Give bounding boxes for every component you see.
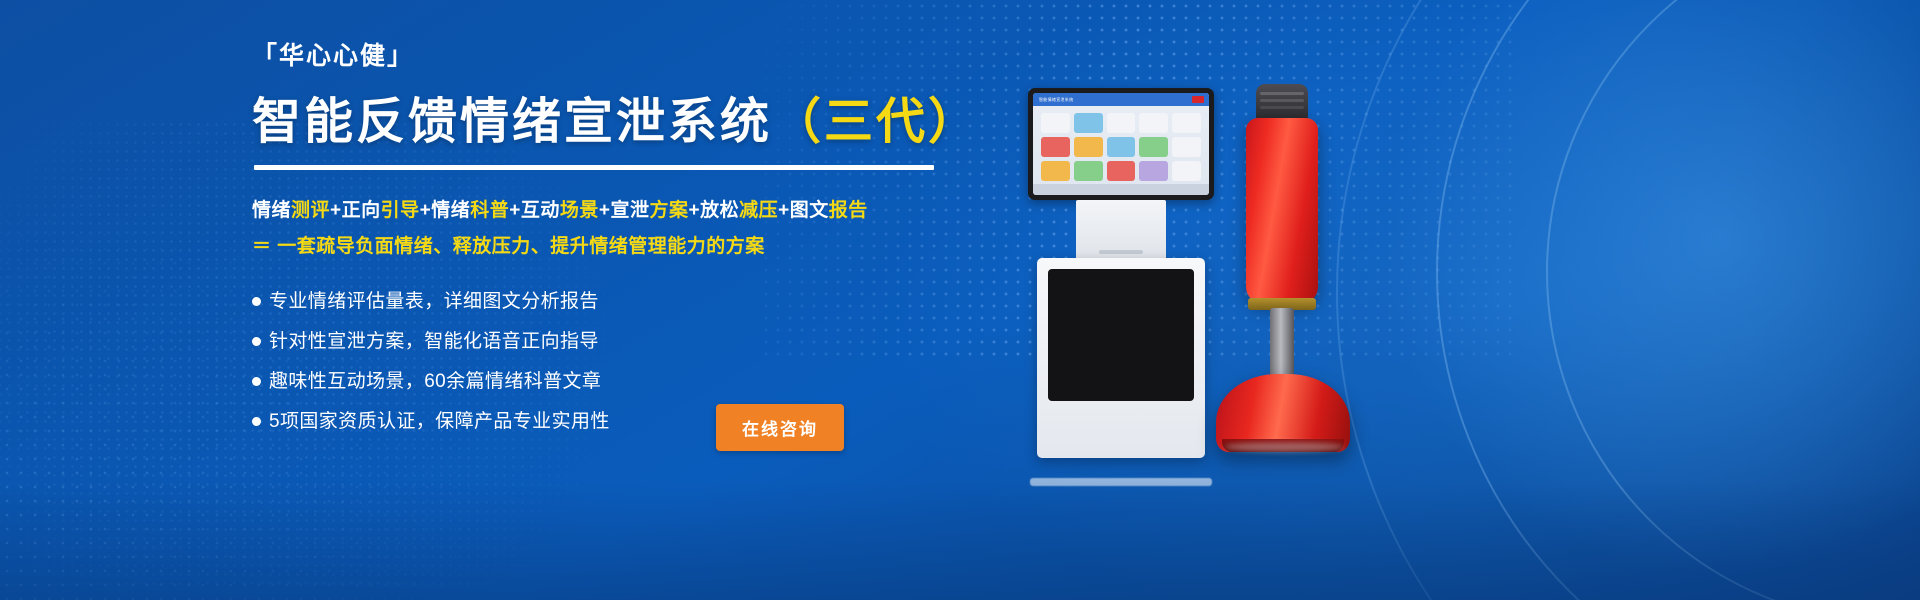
benefit-list: 专业情绪评估量表，详细图文分析报告 针对性宣泄方案，智能化语音正向指导 趣味性互…	[252, 292, 952, 431]
kiosk-tile	[1074, 137, 1103, 157]
feature-seg-3: +正向	[330, 200, 381, 221]
feature-seg-7: +互动	[509, 200, 560, 221]
feature-seg-8: 场景	[560, 200, 599, 221]
kiosk-tile	[1172, 137, 1201, 157]
banner-copy: 「华心心健」 智能反馈情绪宣泄系统（三代） 情绪测评+正向引导+情绪科普+互动场…	[252, 44, 952, 452]
page-title: 智能反馈情绪宣泄系统（三代）	[252, 97, 952, 148]
product-photo: 智能情绪宣泄系统	[1000, 60, 1420, 480]
bottom-gradient-overlay	[0, 480, 1920, 600]
headline-generation-text: （三代）	[772, 95, 980, 149]
feature-line-2: ＝ 一套疏导负面情绪、释放压力、提升情绪管理能力的方案	[252, 232, 952, 261]
punching-bag-cap	[1256, 84, 1308, 122]
kiosk-taskbar	[1033, 184, 1209, 195]
kiosk-display: 智能情绪宣泄系统	[1028, 88, 1214, 200]
kiosk-tile	[1107, 137, 1136, 157]
feature-seg-11: +放松	[689, 200, 740, 221]
kiosk-base-reflection	[1030, 478, 1212, 486]
kiosk-app-title: 智能情绪宣泄系统	[1033, 93, 1209, 106]
kiosk-tile	[1139, 137, 1168, 157]
kiosk-cabinet	[1037, 258, 1205, 458]
list-item-label: 5项国家资质认证，保障产品专业实用性	[269, 412, 610, 431]
kiosk-tile	[1074, 113, 1103, 133]
kiosk-tile	[1172, 161, 1201, 181]
kiosk-tile	[1107, 161, 1136, 181]
list-item: 趣味性互动场景，60余篇情绪科普文章	[252, 372, 952, 391]
punching-bag-body	[1246, 118, 1318, 303]
kiosk-tile	[1074, 161, 1103, 181]
feature-seg-6: 科普	[470, 200, 509, 221]
flag-icon	[1192, 96, 1204, 103]
feature-seg-9: +宣泄	[599, 200, 650, 221]
kiosk-tile	[1139, 113, 1168, 133]
title-divider	[254, 165, 934, 170]
kiosk-tile-grid	[1041, 113, 1201, 181]
kiosk-tile	[1107, 113, 1136, 133]
kiosk-stand-neck	[1076, 200, 1166, 262]
kiosk-app-titlebar: 智能情绪宣泄系统	[1033, 93, 1209, 106]
cta-container: 在线咨询	[716, 404, 844, 451]
feature-seg-2: 测评	[291, 200, 330, 221]
list-item: 针对性宣泄方案，智能化语音正向指导	[252, 332, 952, 351]
decorative-arc-1	[1436, 0, 1920, 600]
feature-seg-12: 减压	[739, 200, 778, 221]
feature-seg-4: 引导	[381, 200, 420, 221]
promo-banner: 「华心心健」 智能反馈情绪宣泄系统（三代） 情绪测评+正向引导+情绪科普+互动场…	[0, 0, 1920, 600]
feature-summary: 情绪测评+正向引导+情绪科普+互动场景+宣泄方案+放松减压+图文报告 ＝ 一套疏…	[252, 196, 952, 261]
feature-line-1: 情绪测评+正向引导+情绪科普+互动场景+宣泄方案+放松减压+图文报告	[252, 196, 952, 225]
kiosk-lower-panel	[1048, 269, 1194, 401]
bullet-icon	[252, 337, 261, 346]
bullet-icon	[252, 417, 261, 426]
punching-bag-reflection	[1224, 442, 1344, 452]
bullet-icon	[252, 297, 261, 306]
background-glow	[1360, 0, 1920, 600]
bullet-icon	[252, 377, 261, 386]
punching-bag-rod	[1270, 308, 1294, 380]
list-item: 专业情绪评估量表，详细图文分析报告	[252, 292, 952, 311]
decorative-arc-2	[1336, 0, 1920, 600]
feature-seg-5: +情绪	[420, 200, 471, 221]
punching-bag-base	[1216, 374, 1350, 452]
headline-main-text: 智能反馈情绪宣泄系统	[252, 95, 772, 149]
kiosk-tile	[1139, 161, 1168, 181]
list-item-label: 趣味性互动场景，60余篇情绪科普文章	[269, 372, 601, 391]
online-consult-button[interactable]: 在线咨询	[716, 404, 844, 451]
feature-seg-10: 方案	[650, 200, 689, 221]
kiosk-tile	[1041, 113, 1070, 133]
list-item-label: 专业情绪评估量表，详细图文分析报告	[269, 292, 599, 311]
kiosk-tile	[1041, 137, 1070, 157]
kiosk-tile	[1041, 161, 1070, 181]
list-item-label: 针对性宣泄方案，智能化语音正向指导	[269, 332, 599, 351]
kiosk-screen-ui: 智能情绪宣泄系统	[1033, 93, 1209, 195]
feature-seg-1: 情绪	[252, 200, 291, 221]
feature-seg-14: 报告	[829, 200, 868, 221]
brand-name: 「华心心健」	[252, 44, 952, 69]
punching-bag	[1218, 84, 1348, 474]
list-item: 5项国家资质认证，保障产品专业实用性	[252, 412, 952, 431]
kiosk-tile	[1172, 113, 1201, 133]
feature-seg-13: +图文	[778, 200, 829, 221]
decorative-arc-3	[1546, 0, 1920, 600]
